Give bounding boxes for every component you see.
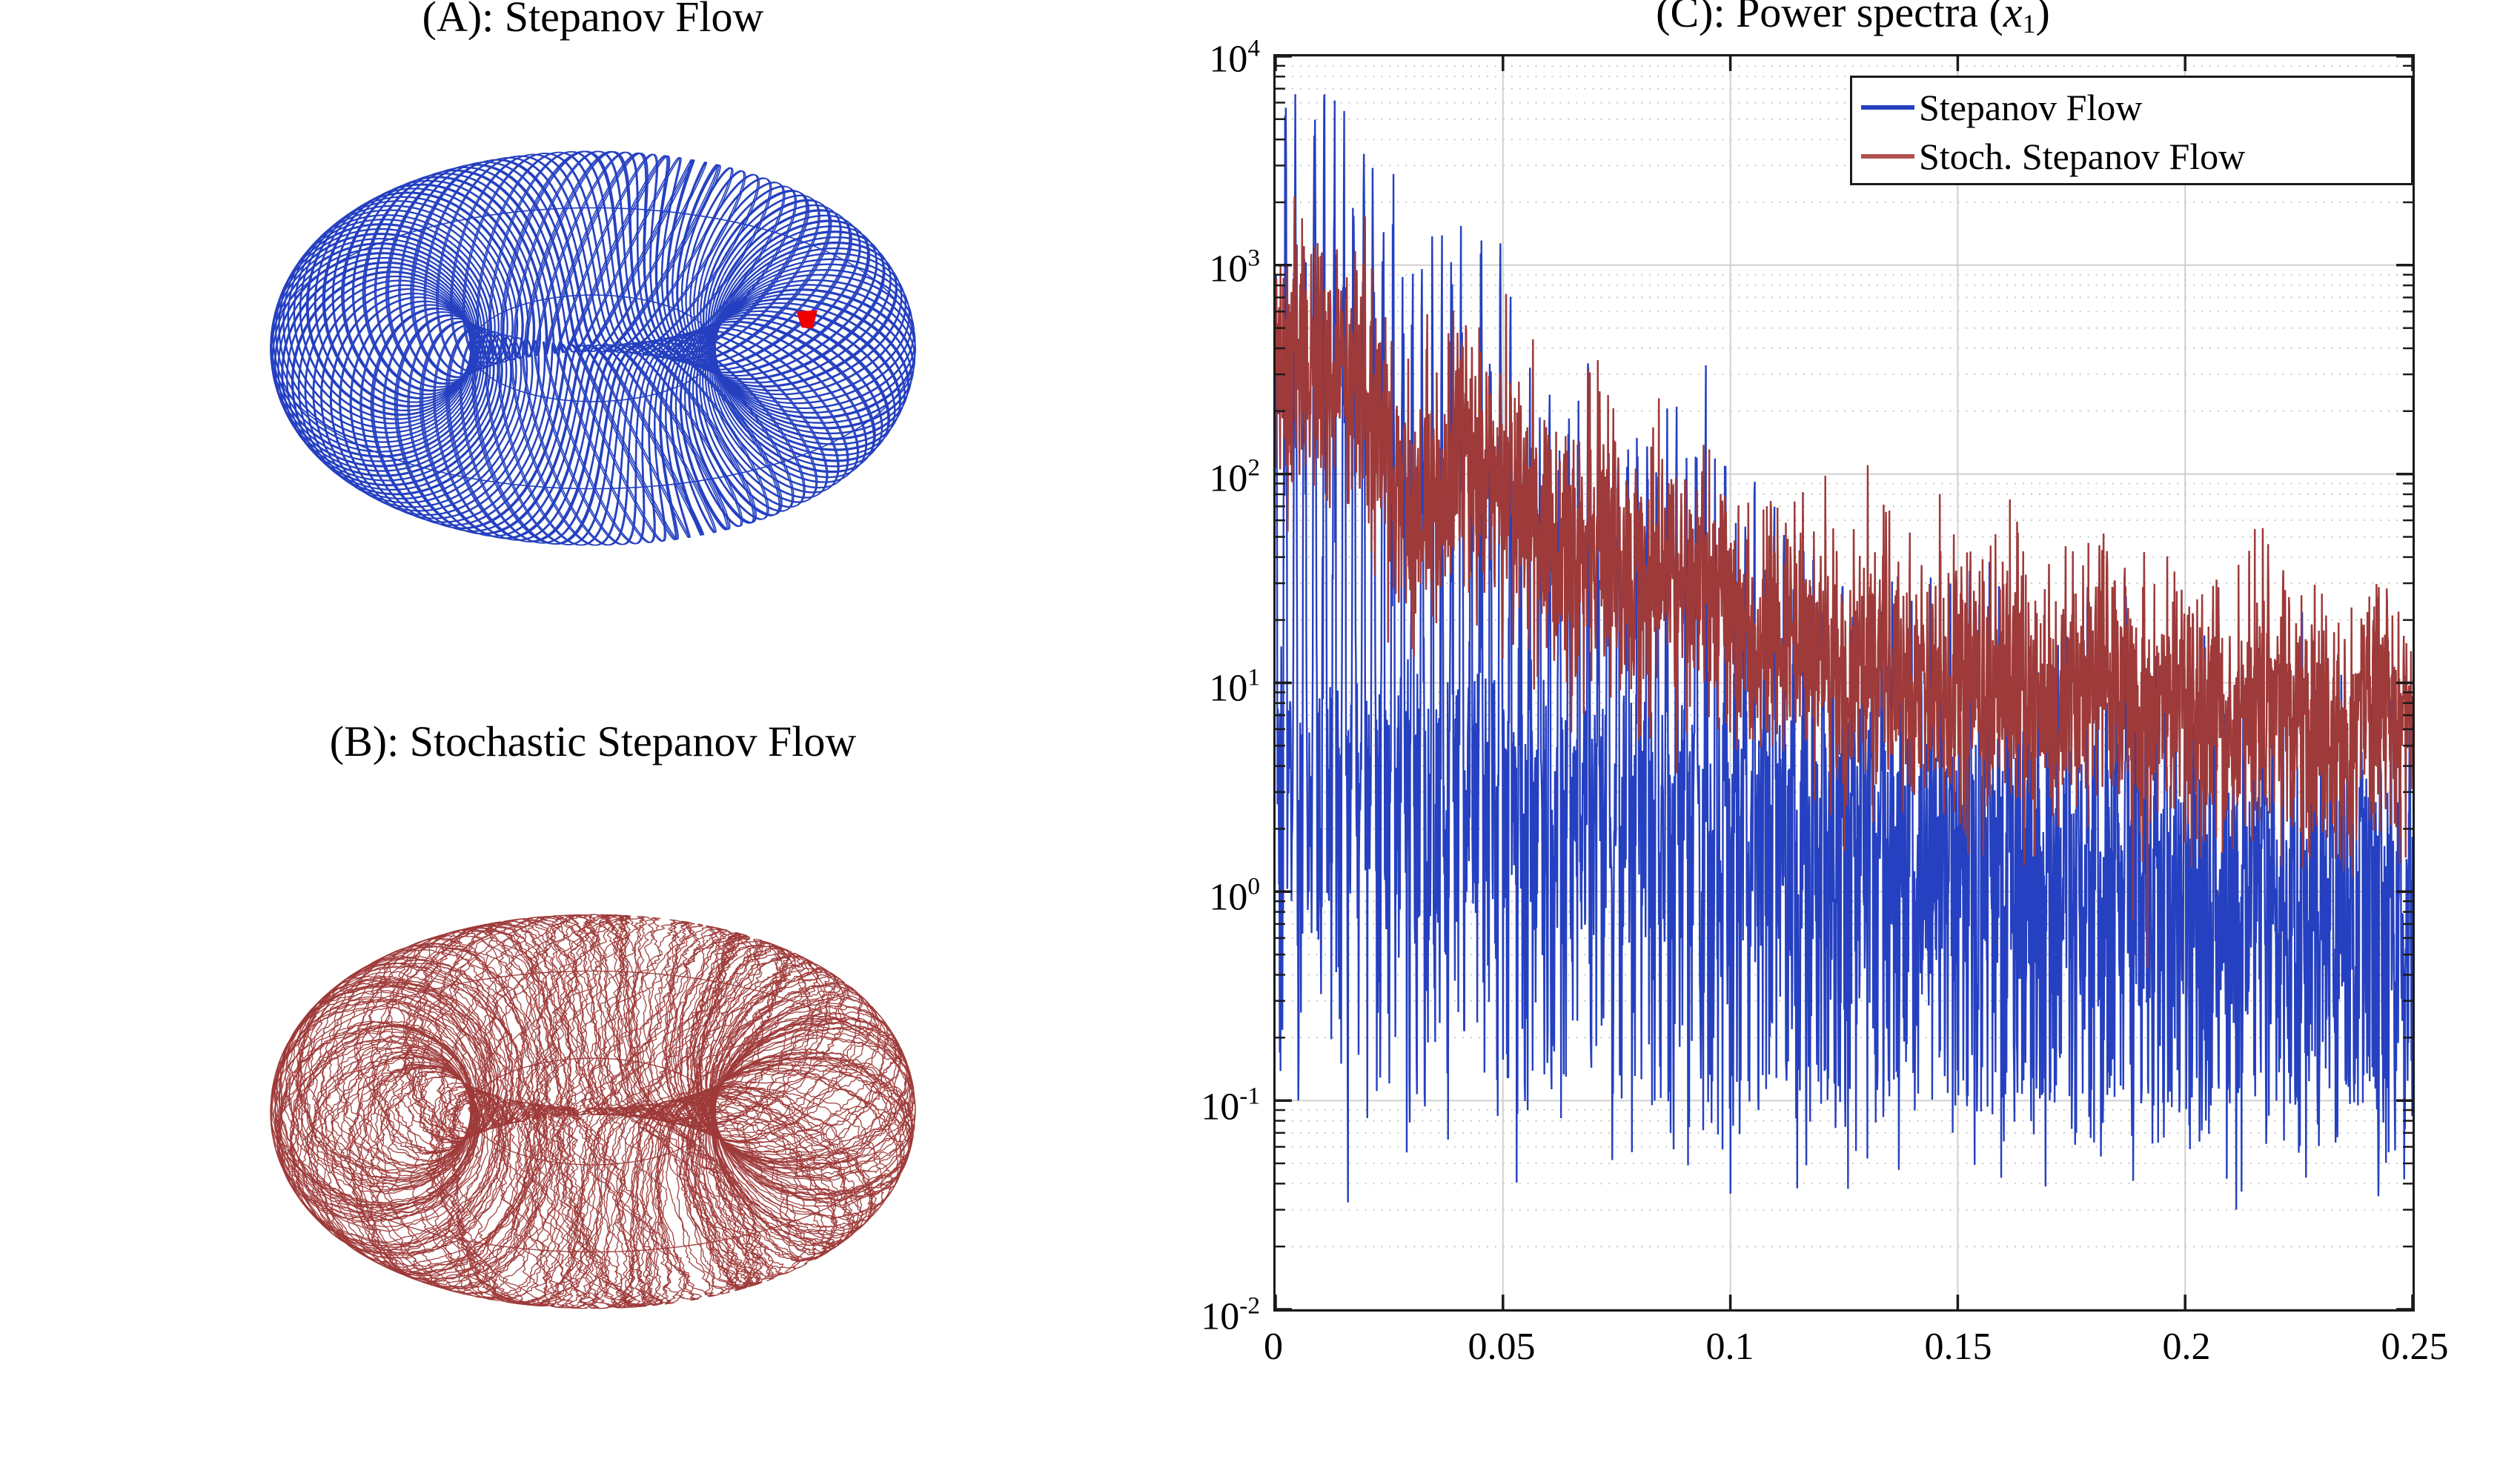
spectra-svg — [1276, 56, 2413, 1309]
y-tick-exponent: 4 — [1247, 35, 1260, 62]
x-axis-tick-label: 0 — [1264, 1326, 1283, 1368]
legend-entry-stepanov-flow: Stepanov Flow — [1861, 85, 2142, 130]
panel-b-title: (B): Stochastic Stepanov Flow — [0, 719, 1186, 765]
x-axis-tick-label: 0.1 — [1706, 1326, 1754, 1368]
y-tick-exponent: 0 — [1247, 873, 1260, 900]
y-axis-tick-labels: 10-210-1100101102103104 — [1186, 0, 1260, 1482]
y-tick-exponent: 2 — [1247, 453, 1260, 481]
legend-swatch-stoch-stepanov-flow — [1861, 154, 1914, 159]
panel-b-stochastic-stepanov-flow: (B): Stochastic Stepanov Flow — [0, 711, 1186, 1482]
chart-title-variable-symbol: x — [2003, 0, 2023, 36]
y-tick-mantissa: 10 — [1209, 247, 1247, 290]
chart-title-variable: x1 — [2003, 0, 2036, 36]
legend-label-stepanov-flow: Stepanov Flow — [1919, 88, 2142, 127]
panel-c-power-spectra: (C): Power spectra (x1) 10-210-110010110… — [1186, 0, 2520, 1482]
legend-swatch-stepanov-flow — [1861, 105, 1914, 110]
chart-title-tail: ) — [2036, 0, 2050, 36]
panel-a-title: (A): Stepanov Flow — [0, 0, 1186, 40]
y-axis-tick-label: 100 — [1209, 868, 1260, 917]
x-axis-tick-label: 0.15 — [1925, 1326, 1992, 1368]
torus-b-svg — [0, 785, 1186, 1438]
spectra-plot-area — [1273, 54, 2415, 1312]
legend: Stepanov Flow Stoch. Stepanov Flow — [1850, 76, 2413, 185]
legend-label-stoch-stepanov-flow: Stoch. Stepanov Flow — [1919, 137, 2245, 176]
torus-a-svg — [0, 44, 1186, 652]
y-tick-mantissa: 10 — [1209, 38, 1247, 80]
y-tick-exponent: -2 — [1239, 1292, 1260, 1320]
y-tick-mantissa: 10 — [1209, 457, 1247, 499]
y-tick-exponent: 3 — [1247, 245, 1260, 272]
panel-b-torus-plot — [0, 785, 1186, 1438]
y-tick-mantissa: 10 — [1201, 1086, 1239, 1128]
chart-title-variable-subscript: 1 — [2023, 9, 2036, 39]
y-axis-tick-label: 102 — [1209, 448, 1260, 498]
x-axis-tick-label: 0.25 — [2381, 1326, 2449, 1368]
chart-title-main: (C): Power spectra ( — [1656, 0, 2003, 36]
legend-entry-stoch-stepanov-flow: Stoch. Stepanov Flow — [1861, 134, 2245, 179]
y-axis-tick-label: 101 — [1209, 658, 1260, 708]
y-axis-tick-label: 10-1 — [1201, 1077, 1260, 1127]
x-axis-tick-label: 0.2 — [2163, 1326, 2211, 1368]
y-tick-mantissa: 10 — [1209, 877, 1247, 919]
x-axis-tick-label: 0.05 — [1468, 1326, 1536, 1368]
y-tick-exponent: 1 — [1247, 663, 1260, 691]
y-axis-tick-label: 103 — [1209, 239, 1260, 289]
chart-title: (C): Power spectra (x1) — [1186, 0, 2520, 47]
y-tick-mantissa: 10 — [1209, 667, 1247, 709]
panel-a-torus-plot — [0, 44, 1186, 652]
panel-a-stepanov-flow: (A): Stepanov Flow — [0, 0, 1186, 711]
y-tick-exponent: -1 — [1239, 1083, 1260, 1110]
y-axis-tick-label: 104 — [1209, 30, 1260, 79]
x-axis-tick-labels: 00.050.10.150.20.25 — [1186, 1326, 2520, 1386]
